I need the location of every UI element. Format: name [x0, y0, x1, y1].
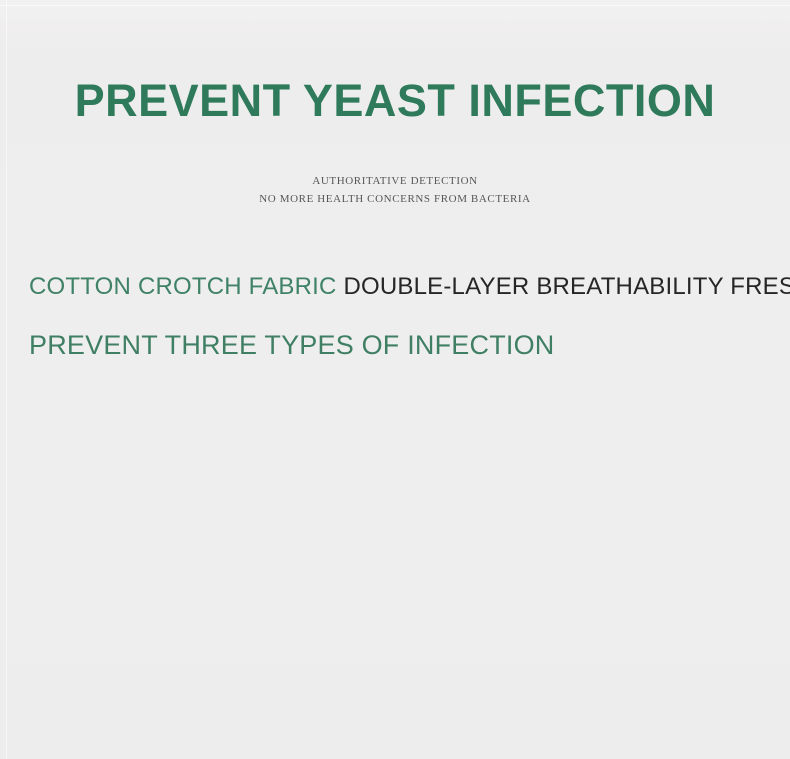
subtitle-line-1: AUTHORITATIVE DETECTION — [0, 172, 790, 190]
page-seam-top — [0, 5, 790, 6]
subtitle-block: AUTHORITATIVE DETECTION NO MORE HEALTH C… — [0, 172, 790, 208]
germ-row-escherichia-coli: ESCHERICHIA COLI — [0, 440, 790, 580]
tagline: COTTON CROTCH FABRIC DOUBLE-LAYER BREATH… — [29, 273, 790, 301]
tagline-accent-text: COTTON CROTCH FABRIC — [29, 273, 337, 300]
germ-row-staphylococcus-aureus: STAPHYLOCOCCUS AUREUS — [0, 608, 790, 753]
promo-page: PREVENT YEAST INFECTION AUTHORITATIVE DE… — [0, 0, 790, 759]
section-heading: PREVENT THREE TYPES OF INFECTION — [29, 330, 555, 361]
subtitle-line-2: NO MORE HEALTH CONCERNS FROM BACTERIA — [0, 190, 790, 208]
page-title: PREVENT YEAST INFECTION — [0, 78, 790, 123]
tagline-plain-text: DOUBLE-LAYER BREATHABILITY FRESH — [343, 273, 790, 300]
